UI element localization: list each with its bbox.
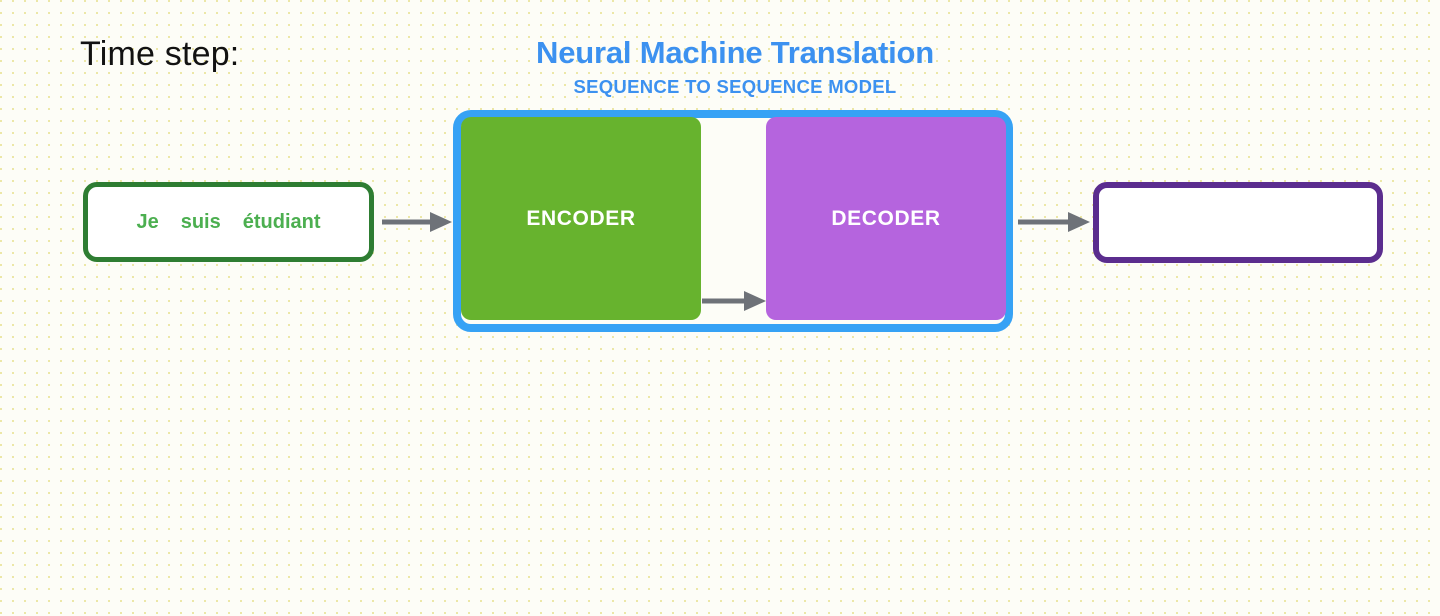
input-token: étudiant [243,211,321,234]
diagram-canvas: Time step: Neural Machine Translation SE… [0,0,1440,616]
encoder-label: ENCODER [526,207,635,231]
decoder-label: DECODER [831,207,940,231]
input-token: Je [136,211,158,234]
time-step-text: Time step: [80,35,239,73]
input-sentence-box: Je suis étudiant [83,182,374,262]
input-token: suis [181,211,221,234]
arrow-input-to-encoder [380,208,456,236]
time-step-label: Time step: [80,34,249,75]
title-block: Neural Machine Translation SEQUENCE TO S… [440,36,1030,98]
arrow-encoder-to-decoder [700,287,770,315]
page-title: Neural Machine Translation [440,36,1030,70]
encoder-block: ENCODER [461,117,701,320]
decoder-block: DECODER [766,117,1006,320]
page-subtitle: SEQUENCE TO SEQUENCE MODEL [440,76,1030,98]
arrow-decoder-to-output [1016,208,1094,236]
output-sentence-box [1093,182,1383,263]
